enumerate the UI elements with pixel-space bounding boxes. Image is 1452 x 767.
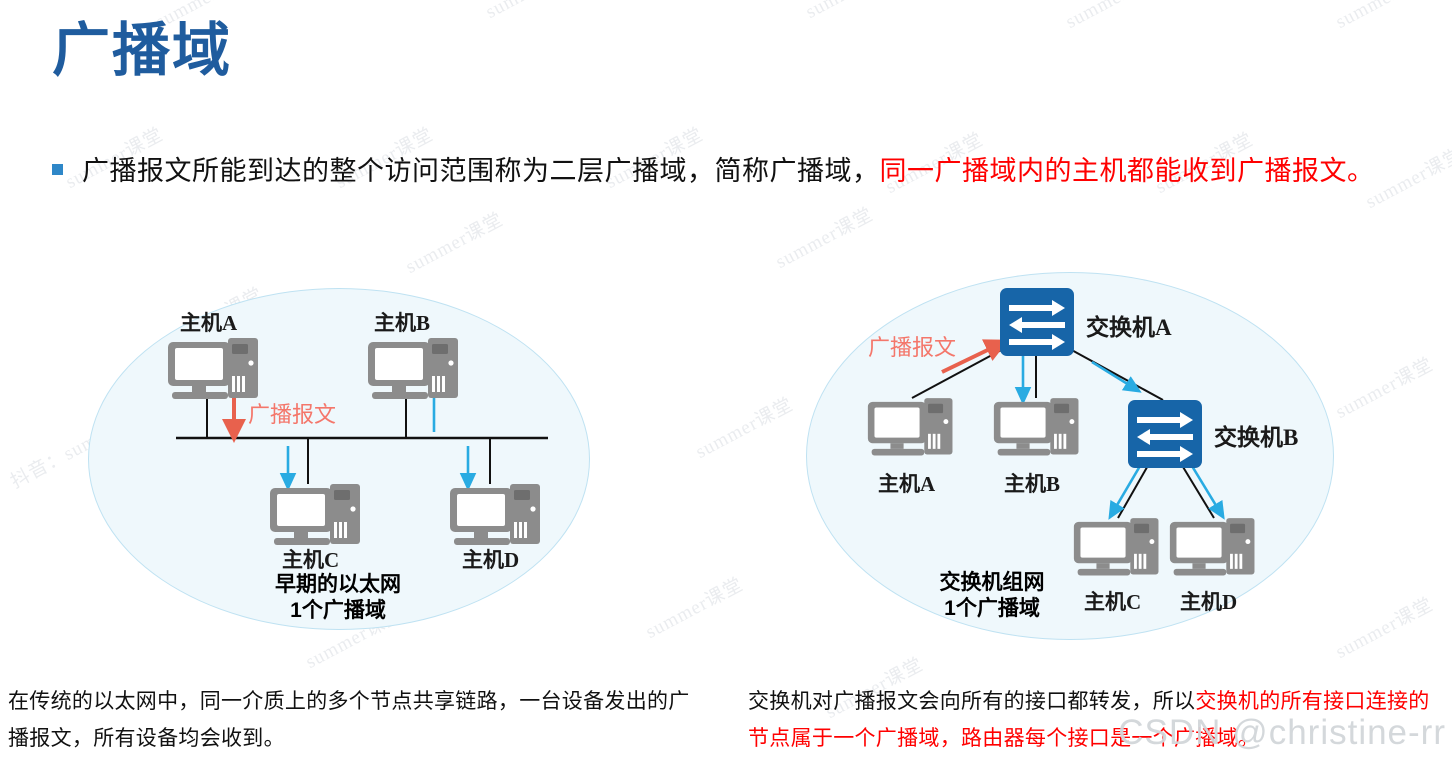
bullet-square-icon — [52, 164, 63, 175]
bullet-text-black: 广播报文所能到达的整个访问范围称为二层广播域，简称广播域， — [82, 156, 880, 186]
right-host-c-label: 主机C — [1084, 586, 1141, 616]
right-host-b-label: 主机B — [1004, 468, 1060, 498]
watermark-tile: summer课堂 — [770, 200, 877, 274]
left-host-d-label: 主机D — [462, 544, 519, 574]
right-diagram-caption: 交换机组网 1个广播域 — [902, 570, 1082, 621]
watermark-tile: summer课堂 — [1060, 0, 1167, 34]
watermark-tile: summer课堂 — [800, 0, 907, 24]
left-broadcast-flow-label: 广播报文 — [248, 397, 336, 429]
right-switch-b-label: 交换机B — [1214, 418, 1298, 452]
right-host-a-label: 主机A — [878, 468, 935, 498]
left-host-c-label: 主机C — [282, 544, 339, 574]
watermark-tile: summer课堂 — [400, 205, 507, 279]
right-switch-a-label: 交换机A — [1086, 308, 1172, 342]
bullet-block: 广播报文所能到达的整个访问范围称为二层广播域，简称广播域，同一广播域内的主机都能… — [52, 148, 1412, 194]
bullet-text-red: 同一广播域内的主机都能收到广播报文。 — [880, 156, 1375, 186]
left-host-b-label: 主机B — [374, 307, 430, 337]
left-diagram-caption: 早期的以太网 1个广播域 — [238, 572, 438, 623]
bullet-text: 广播报文所能到达的整个访问范围称为二层广播域，简称广播域，同一广播域内的主机都能… — [82, 148, 1412, 194]
right-caption-line-2: 1个广播域 — [902, 596, 1082, 622]
watermark-tile: summer课堂 — [1330, 350, 1437, 424]
watermark-tile: summer课堂 — [640, 570, 747, 644]
watermark-tile: summer课堂 — [690, 390, 797, 464]
footer-right-black: 交换机对广播报文会向所有的接口都转发，所以 — [748, 690, 1195, 713]
right-broadcast-flow-label: 广播报文 — [868, 330, 956, 362]
right-host-d-label: 主机D — [1180, 586, 1237, 616]
slide-canvas: summer课堂 summer课堂 summer课堂 summer课堂 summ… — [0, 0, 1452, 767]
footer-right-text: 交换机对广播报文会向所有的接口都转发，所以交换机的所有接口连接的节点属于一个广播… — [748, 684, 1448, 758]
watermark-tile: summer课堂 — [1330, 0, 1437, 34]
left-host-a-label: 主机A — [180, 307, 237, 337]
watermark-tile: summer课堂 — [1330, 590, 1437, 664]
page-title: 广播域 — [52, 18, 232, 85]
left-caption-line-2: 1个广播域 — [238, 598, 438, 624]
right-caption-line-1: 交换机组网 — [902, 570, 1082, 596]
left-caption-line-1: 早期的以太网 — [238, 572, 438, 598]
watermark-tile: summer课堂 — [480, 0, 587, 24]
footer-left-text: 在传统的以太网中，同一介质上的多个节点共享链路，一台设备发出的广播报文，所有设备… — [8, 684, 708, 758]
